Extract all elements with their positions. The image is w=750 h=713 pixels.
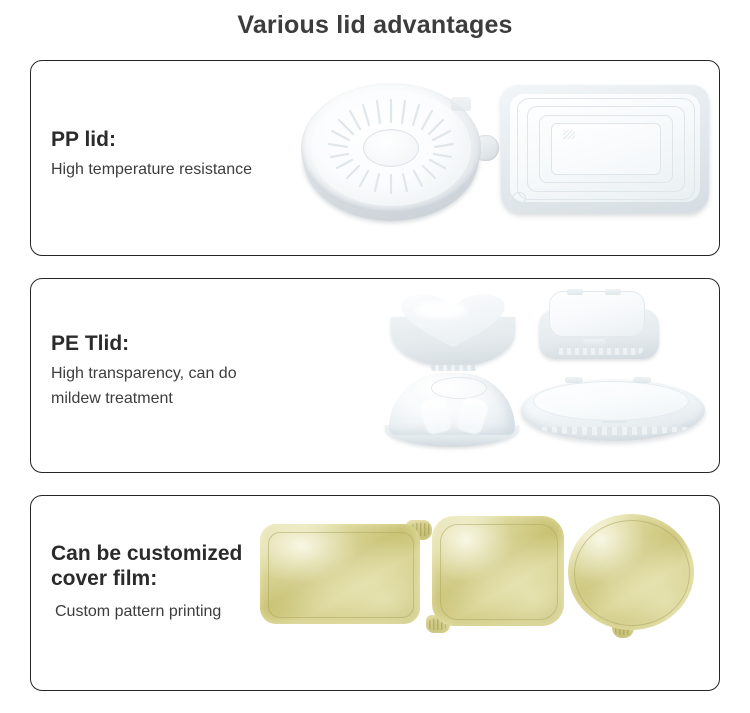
rect-lid-corner-notch	[512, 192, 526, 204]
card-pe-text-block: PE Tlid: High transparency, can do milde…	[51, 331, 237, 412]
card-film-text-block: Can be customized cover film: Custom pat…	[51, 541, 242, 625]
oval-lid-foot	[537, 427, 689, 435]
heart-lid-feet	[431, 365, 477, 371]
card-pp-subtitle: High temperature resistance	[51, 158, 252, 183]
round-lid-logo-emboss	[451, 97, 471, 111]
gold-round-inner-line	[574, 520, 690, 626]
square-lid-notch-bottom	[583, 339, 605, 345]
rect-lid-outer	[501, 85, 709, 213]
square-lid-notch-left	[567, 289, 583, 295]
card-pe-heading: PE Tlid:	[51, 331, 237, 356]
product-dome-pe-lid	[383, 373, 523, 455]
card-pp-photo-area	[299, 61, 719, 255]
card-film-heading: Can be customized cover film:	[51, 541, 242, 591]
heart-lid-highlight	[415, 301, 467, 319]
card-pe-lid: PE Tlid: High transparency, can do milde…	[30, 278, 720, 473]
gold-rect-inner-line	[268, 532, 414, 618]
product-gold-square-cover-film	[424, 510, 584, 635]
card-film-photo-area	[254, 496, 719, 690]
dome-lid-cap	[389, 373, 515, 435]
oval-lid-notch-right	[633, 377, 651, 383]
gold-square-inner-line	[440, 524, 558, 620]
dome-lid-inner-ring	[431, 377, 487, 399]
square-lid-notch-right	[605, 289, 621, 295]
card-pp-heading: PP lid:	[51, 127, 252, 152]
product-gold-round-cover-film	[562, 510, 717, 638]
oval-lid-notch-left	[565, 377, 583, 383]
square-lid-top	[549, 291, 645, 337]
rect-lid-emboss-mark	[563, 130, 575, 139]
dome-lid-flute-left	[419, 396, 453, 436]
product-oval-flat-pe-lid	[519, 375, 709, 455]
card-pp-text-block: PP lid: High temperature resistance	[51, 127, 252, 183]
page-title: Various lid advantages	[0, 0, 750, 40]
card-pp-lid: PP lid: High temperature resistance	[30, 60, 720, 256]
card-cover-film: Can be customized cover film: Custom pat…	[30, 495, 720, 691]
card-film-subtitle: Custom pattern printing	[51, 600, 242, 625]
product-gold-rectangular-cover-film	[254, 514, 434, 629]
dome-lid-flute-right	[455, 396, 489, 436]
round-lid-center-disc	[363, 129, 419, 167]
product-round-ribbed-pp-lid	[299, 75, 499, 235]
product-square-pe-lid	[537, 287, 662, 372]
product-rectangular-pp-lid	[499, 81, 714, 231]
oval-lid-top	[533, 381, 689, 421]
card-pe-photo-area	[369, 279, 719, 472]
card-pe-subtitle: High transparency, can do mildew treatme…	[51, 362, 237, 412]
square-lid-foot	[555, 348, 643, 355]
round-lid-face	[311, 90, 471, 206]
product-heart-shaped-pe-lid	[387, 289, 522, 374]
